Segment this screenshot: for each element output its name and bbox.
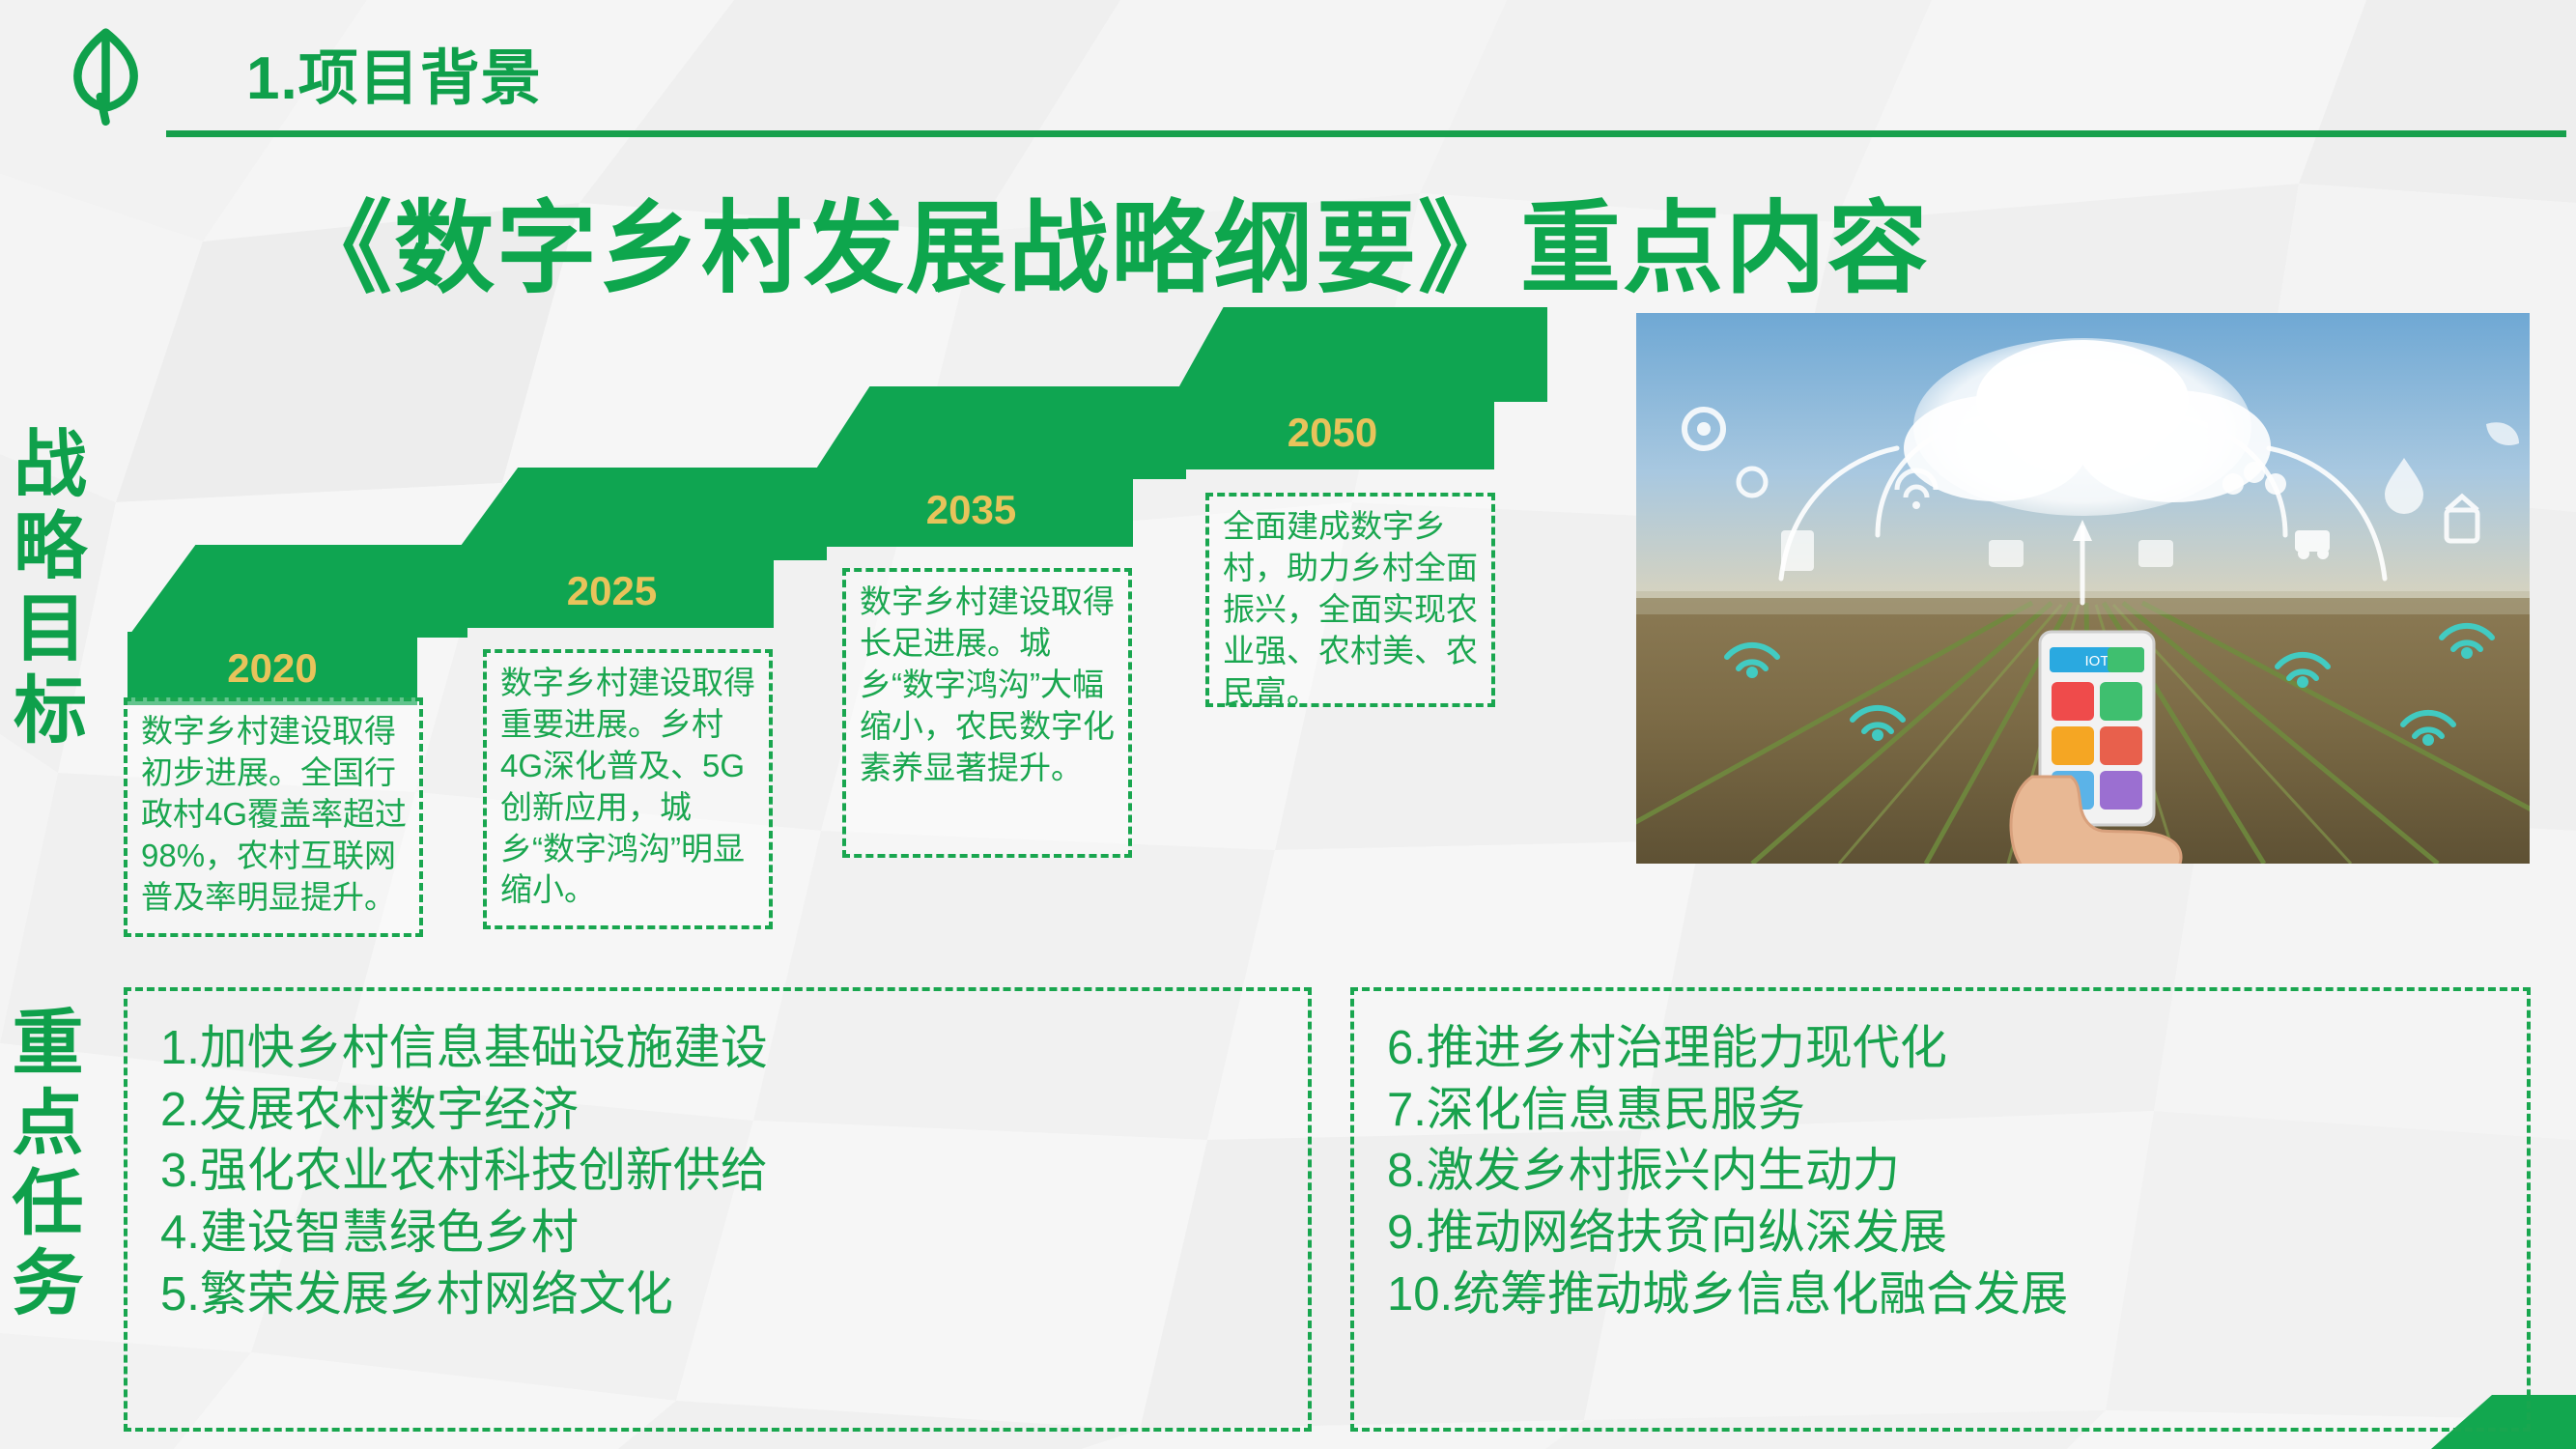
leaf-icon [60, 15, 152, 127]
step-2025-face: 2025 [450, 554, 774, 628]
task-item: 8.激发乡村振兴内生动力 [1387, 1141, 2509, 1203]
step-2020-face: 2020 [127, 632, 417, 705]
step-2050-top [1171, 307, 1547, 402]
step-2025-text: 数字乡村建设取得重要进展。乡村4G深化普及、5G创新应用，城乡“数字鸿沟”明显缩… [500, 665, 755, 907]
task-item: 3.强化农业农村科技创新供给 [160, 1141, 1290, 1203]
svg-text:IOT: IOT [2085, 653, 2109, 669]
task-item: 7.深化信息惠民服务 [1387, 1080, 2509, 1142]
step-2020-top [127, 545, 467, 638]
task-item: 2.发展农村数字经济 [160, 1080, 1290, 1142]
task-item: 6.推进乡村治理能力现代化 [1387, 1018, 2509, 1080]
step-2035-year: 2035 [809, 487, 1133, 533]
key-tasks-label: 重点任务 [6, 1005, 77, 1325]
step-2050-face: 2050 [1171, 396, 1494, 469]
step-2035-text: 数字乡村建设取得长足进展。城乡“数字鸿沟”大幅缩小，农民数字化素养显著提升。 [860, 583, 1115, 785]
step-2050-description: 全面建成数字乡村，助力乡村全面振兴，全面实现农业强、农村美、农民富。 [1205, 493, 1495, 707]
task-item: 4.建设智慧绿色乡村 [160, 1203, 1290, 1264]
step-2020-year: 2020 [127, 645, 417, 692]
step-2035-top [809, 386, 1186, 479]
step-2035-face: 2035 [809, 473, 1133, 547]
main-title: 《数字乡村发展战略纲要》重点内容 [0, 166, 2222, 312]
step-2025-description: 数字乡村建设取得重要进展。乡村4G深化普及、5G创新应用，城乡“数字鸿沟”明显缩… [483, 649, 773, 929]
page-title: 1.项目背景 [246, 29, 542, 116]
task-item: 1.加快乡村信息基础设施建设 [160, 1018, 1290, 1080]
task-item: 9.推动网络扶贫向纵深发展 [1387, 1203, 2509, 1264]
strategic-goals-label: 战略目标 [6, 425, 79, 753]
strategy-timeline-staircase: 2050 全面建成数字乡村，助力乡村全面振兴，全面实现农业强、农村美、农民富。 … [0, 0, 1642, 966]
task-item: 10.统筹推动城乡信息化融合发展 [1387, 1264, 2509, 1326]
smart-agriculture-photo: IOT [1636, 313, 2530, 864]
header-divider [166, 130, 2566, 137]
step-2050-year: 2050 [1171, 410, 1494, 456]
step-2050-text: 全面建成数字乡村，助力乡村全面振兴，全面实现农业强、农村美、农民富。 [1223, 508, 1478, 710]
task-item: 5.繁荣发展乡村网络文化 [160, 1264, 1290, 1326]
step-2025-year: 2025 [450, 568, 774, 614]
step-2035-description: 数字乡村建设取得长足进展。城乡“数字鸿沟”大幅缩小，农民数字化素养显著提升。 [842, 568, 1132, 858]
step-2020-description: 数字乡村建设取得初步进展。全国行政村4G覆盖率超过98%，农村互联网普及率明显提… [124, 697, 423, 937]
slide-header: 1.项目背景 [0, 0, 2576, 145]
step-2020-text: 数字乡村建设取得初步进展。全国行政村4G覆盖率超过98%，农村互联网普及率明显提… [141, 713, 407, 915]
key-tasks-panel-left: 1.加快乡村信息基础设施建设 2.发展农村数字经济 3.强化农业农村科技创新供给… [124, 987, 1312, 1432]
key-tasks-panel-right: 6.推进乡村治理能力现代化 7.深化信息惠民服务 8.激发乡村振兴内生动力 9.… [1350, 987, 2531, 1432]
step-2025-top [450, 468, 827, 560]
